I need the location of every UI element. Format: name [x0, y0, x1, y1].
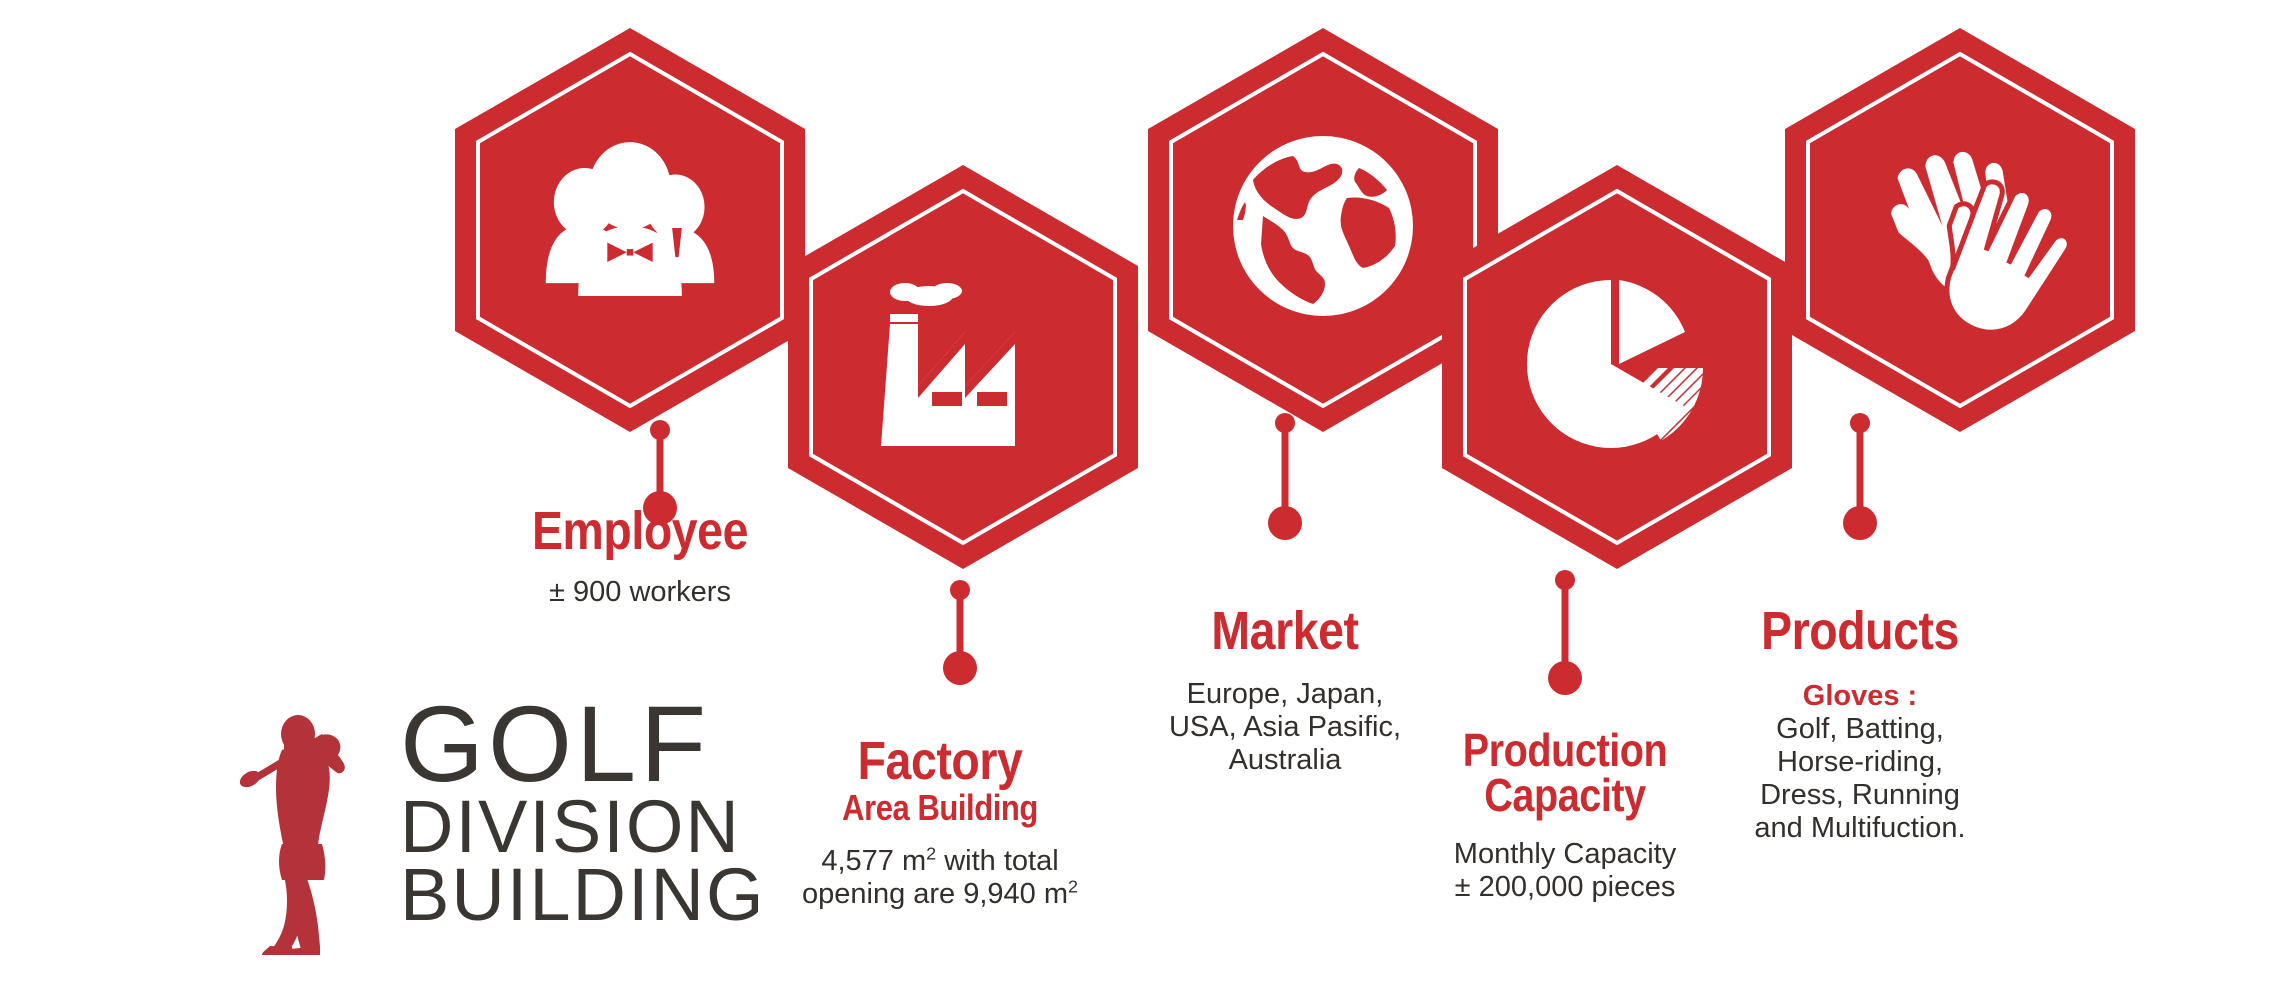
market-body-line: USA, Asia Pasific, — [1135, 711, 1435, 744]
products-body-line: and Multifuction. — [1695, 812, 2025, 845]
factory-body-sup1: 2 — [926, 844, 936, 864]
products-body: Gloves : Golf, Batting, Horse-riding, Dr… — [1695, 680, 2025, 845]
products-body-line: Horse-riding, — [1695, 746, 2025, 779]
logo-line-golf: GOLF — [400, 694, 766, 793]
connector-factory — [940, 580, 980, 693]
logo-golf-division-building[interactable]: GOLF DIVISION BUILDING — [240, 700, 770, 960]
factory-body: 4,577 m2 with total opening are 9,940 m2 — [775, 845, 1105, 911]
text-block-employee: Employee ± 900 workers — [490, 505, 790, 609]
logo-wordmark: GOLF DIVISION BUILDING — [400, 694, 766, 930]
employee-body: ± 900 workers — [490, 576, 790, 609]
factory-body-l2a: opening are 9,940 m — [802, 878, 1068, 910]
products-highlight: Gloves : — [1695, 680, 2025, 713]
market-body-line: Europe, Japan, — [1135, 678, 1435, 711]
products-body-line: Golf, Batting, — [1695, 713, 2025, 746]
text-block-products: Products Gloves : Golf, Batting, Horse-r… — [1710, 605, 2010, 845]
products-title: Products — [1731, 605, 1989, 658]
connector-production — [1545, 570, 1585, 703]
text-block-market: Market Europe, Japan, USA, Asia Pasific,… — [1135, 605, 1435, 777]
factory-body-l1a: 4,577 m — [821, 845, 926, 877]
logo-line-building: BUILDING — [400, 861, 766, 929]
hexagon-factory[interactable] — [788, 165, 1138, 569]
factory-title: Factory — [811, 735, 1069, 788]
market-body: Europe, Japan, USA, Asia Pasific, Austra… — [1135, 678, 1435, 777]
market-title: Market — [1156, 605, 1414, 658]
connector-products — [1840, 413, 1880, 548]
hexagon-employee[interactable] — [455, 28, 805, 432]
production-title: Production — [1436, 728, 1694, 773]
production-body-line: Monthly Capacity — [1400, 838, 1730, 871]
factory-subtitle: Area Building — [811, 790, 1069, 825]
production-body-line: ± 200,000 pieces — [1400, 871, 1730, 904]
production-body: Monthly Capacity ± 200,000 pieces — [1400, 838, 1730, 904]
hexagon-production-capacity[interactable] — [1442, 165, 1792, 569]
production-subtitle: Capacity — [1436, 773, 1694, 818]
products-body-line: Dress, Running — [1695, 779, 2025, 812]
market-body-line: Australia — [1135, 744, 1435, 777]
hexagon-products[interactable] — [1785, 28, 2135, 432]
globe-icon — [1233, 136, 1413, 316]
connector-market — [1265, 413, 1305, 548]
factory-body-l1b: with total — [936, 845, 1059, 877]
golfer-silhouette-icon — [240, 706, 400, 961]
employee-title: Employee — [511, 505, 769, 558]
logo-line-division: DIVISION — [400, 793, 766, 861]
text-block-production: Production Capacity Monthly Capacity ± 2… — [1415, 728, 1715, 904]
text-block-factory: Factory Area Building 4,577 m2 with tota… — [790, 735, 1090, 911]
infographic-canvas: Employee ± 900 workers Factory Area Buil… — [0, 0, 2289, 1001]
factory-body-sup2: 2 — [1068, 877, 1078, 897]
